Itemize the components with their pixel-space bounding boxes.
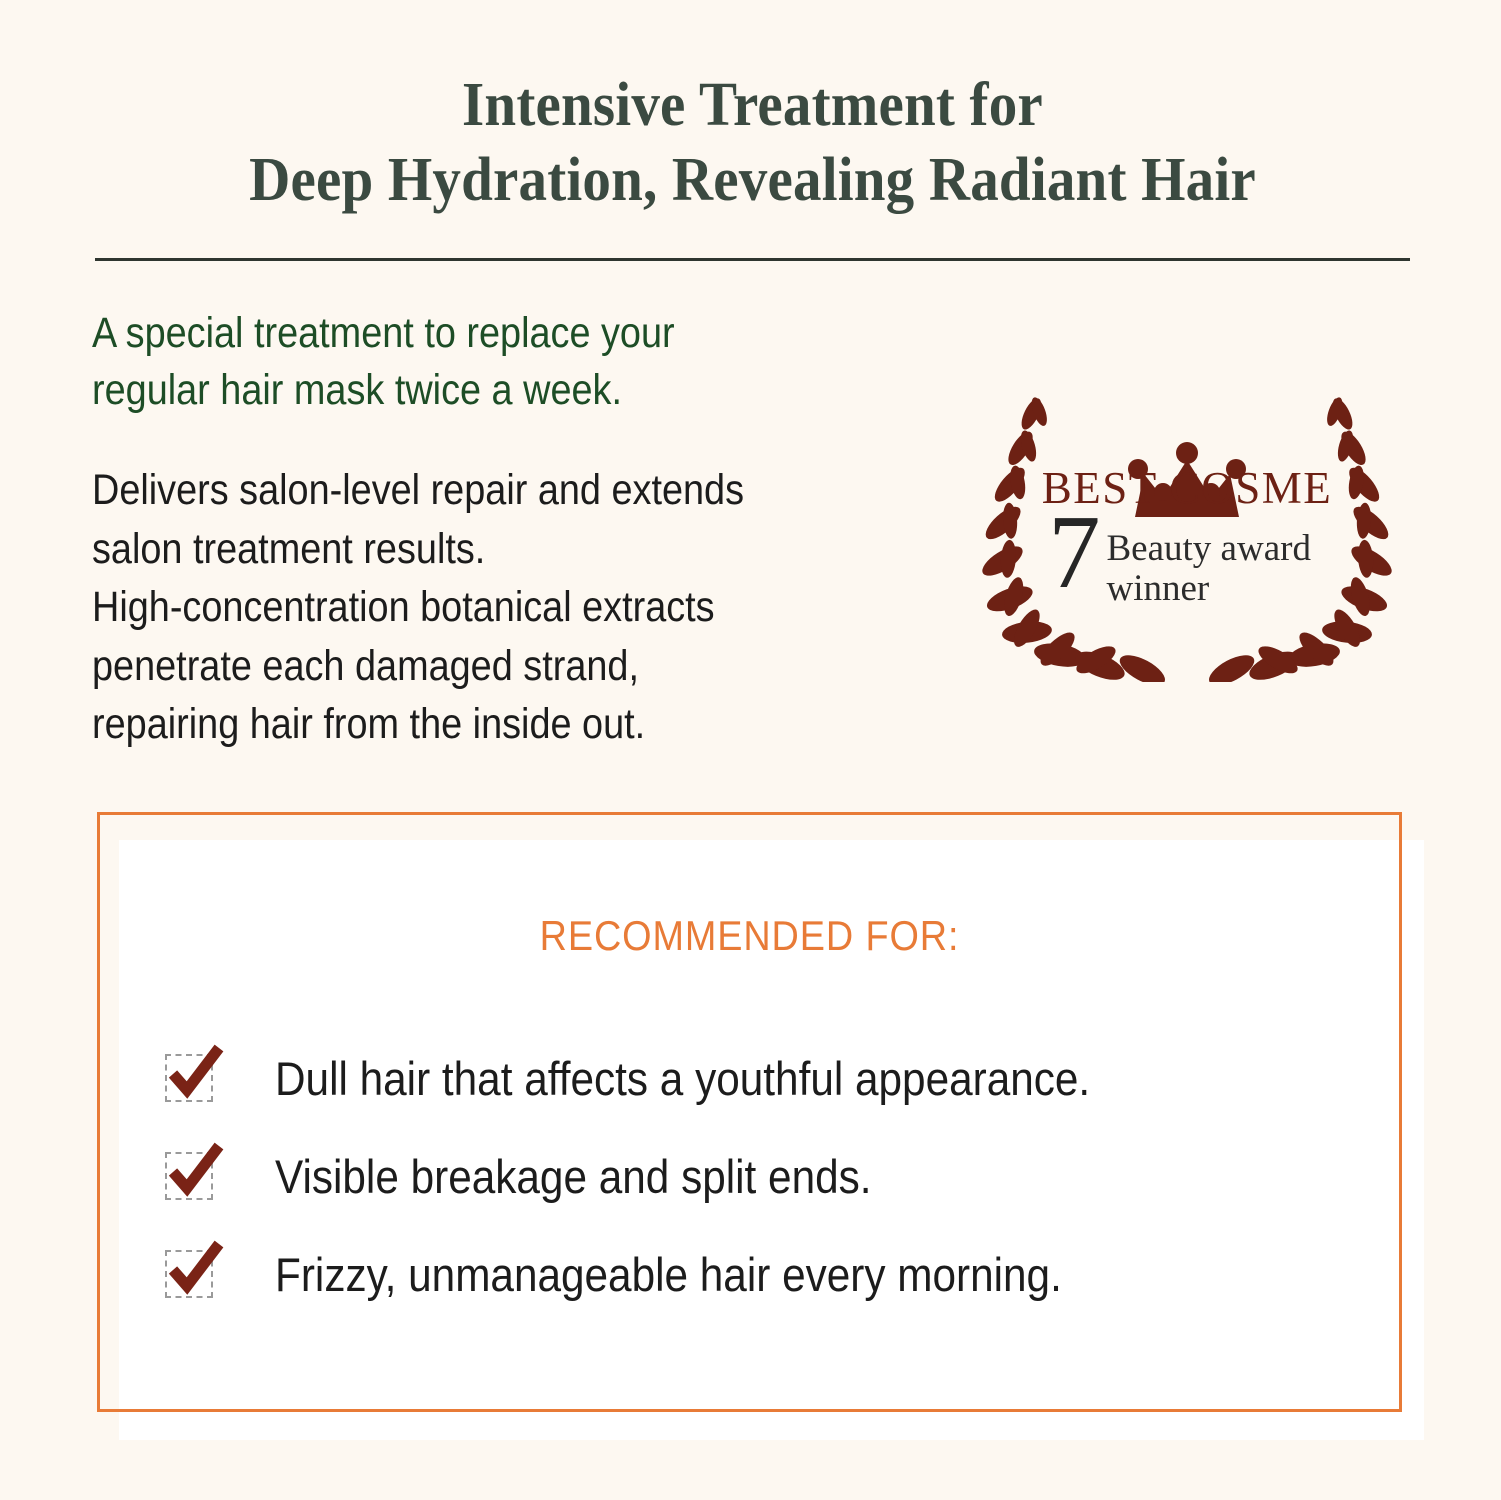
intro-line-1: A special treatment to replace your <box>92 305 849 362</box>
badge-subtitle: Beauty award winner <box>1107 507 1311 609</box>
page-title: Intensive Treatment for Deep Hydration, … <box>95 68 1410 218</box>
checkmark-icon <box>163 1040 229 1106</box>
body-line-4: penetrate each damaged strand, <box>92 637 849 695</box>
badge-number: 7 <box>1048 507 1101 597</box>
intro-paragraph: A special treatment to replace your regu… <box>92 305 849 419</box>
list-item-label: Dull hair that affects a youthful appear… <box>275 1055 1090 1102</box>
checkbox-1[interactable] <box>165 1054 213 1102</box>
list-item-label: Frizzy, unmanageable hair every morning. <box>275 1251 1062 1298</box>
checkmark-icon <box>163 1138 229 1204</box>
body-line-1: Delivers salon-level repair and extends <box>92 461 849 519</box>
body-line-5: repairing hair from the inside out. <box>92 695 849 753</box>
checkmark-icon <box>163 1236 229 1302</box>
copy-block: A special treatment to replace your regu… <box>92 305 952 754</box>
title-divider <box>95 258 1410 261</box>
panel-content: RECOMMENDED FOR: Dull hair that affects … <box>97 812 1402 1412</box>
award-badge: BEST COSME 7 Beauty award winner <box>952 382 1422 682</box>
list-item-label: Visible breakage and split ends. <box>275 1153 872 1200</box>
body-line-2: salon treatment results. <box>92 520 849 578</box>
badge-award-count-row: 7 Beauty award winner <box>1048 507 1311 609</box>
list-item[interactable]: Visible breakage and split ends. <box>165 1128 1385 1224</box>
title-line-1: Intensive Treatment for <box>148 68 1358 143</box>
recommended-panel: RECOMMENDED FOR: Dull hair that affects … <box>97 812 1402 1412</box>
checkbox-2[interactable] <box>165 1152 213 1200</box>
checkbox-3[interactable] <box>165 1250 213 1298</box>
promo-poster: Intensive Treatment for Deep Hydration, … <box>0 0 1501 1500</box>
body-line-3: High-concentration botanical extracts <box>92 578 849 636</box>
body-paragraph: Delivers salon-level repair and extends … <box>92 461 849 753</box>
badge-text-group: BEST COSME 7 Beauty award winner <box>952 382 1422 682</box>
badge-subtitle-line-2: winner <box>1107 569 1311 609</box>
badge-subtitle-line-1: Beauty award <box>1107 529 1311 569</box>
recommendation-list: Dull hair that affects a youthful appear… <box>165 1030 1385 1324</box>
intro-line-2: regular hair mask twice a week. <box>92 362 849 419</box>
panel-heading: RECOMMENDED FOR: <box>162 912 1337 960</box>
list-item[interactable]: Frizzy, unmanageable hair every morning. <box>165 1226 1385 1322</box>
list-item[interactable]: Dull hair that affects a youthful appear… <box>165 1030 1385 1126</box>
title-line-2: Deep Hydration, Revealing Radiant Hair <box>148 143 1358 218</box>
